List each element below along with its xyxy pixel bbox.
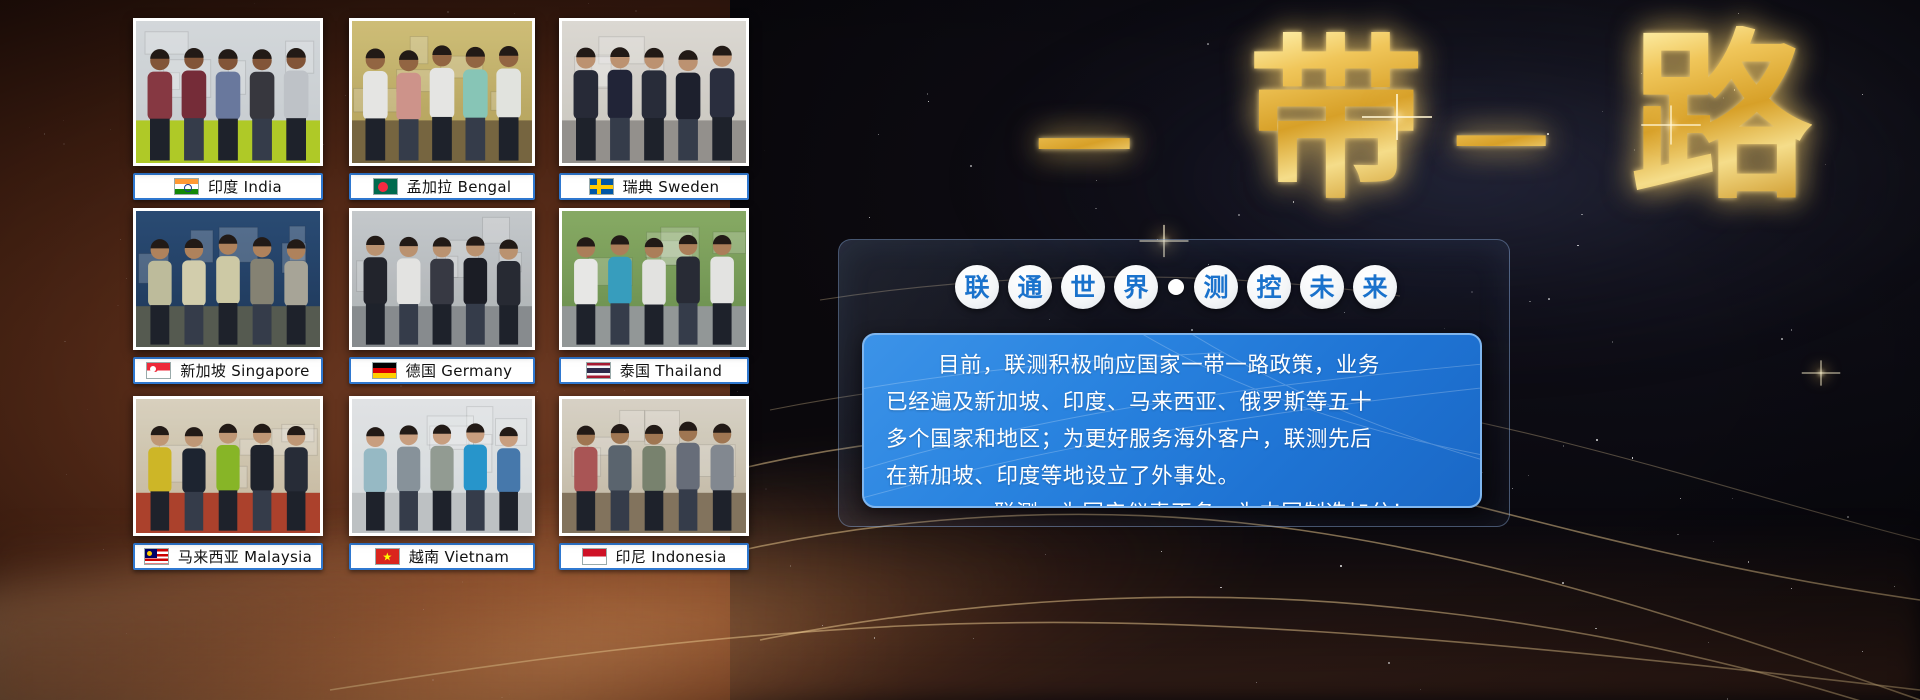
gallery-cell[interactable]: 越南 Vietnam <box>349 396 535 570</box>
photo-scene <box>136 211 320 347</box>
photo-scene <box>136 21 320 163</box>
country-caption[interactable]: 越南 Vietnam <box>349 543 535 570</box>
gallery-cell[interactable]: 泰国 Thailand <box>559 208 749 384</box>
gallery-cell[interactable]: 孟加拉 Bengal <box>349 18 535 200</box>
country-photo-grid: 印度 India孟加拉 Bengal瑞典 Sweden新加坡 Singapore… <box>133 18 758 584</box>
country-caption-label: 新加坡 Singapore <box>180 360 309 381</box>
slogan-badge: 通 <box>1008 265 1052 309</box>
description-line-3: 多个国家和地区；为更好服务海外客户，联测先后 <box>886 421 1458 458</box>
description-line-2: 已经遍及新加坡、印度、马来西亚、俄罗斯等五十 <box>886 384 1458 421</box>
country-photo[interactable] <box>349 18 535 166</box>
flag-singapore-icon <box>146 362 171 379</box>
photo-scene <box>352 21 532 163</box>
slogan-badge-row: 联通世界测控未来 <box>955 265 1397 309</box>
gallery-cell[interactable]: 瑞典 Sweden <box>559 18 749 200</box>
country-caption[interactable]: 泰国 Thailand <box>559 357 749 384</box>
flag-germany-icon <box>372 362 397 379</box>
slogan-badge: 未 <box>1300 265 1344 309</box>
country-photo[interactable] <box>559 396 749 536</box>
photo-scene <box>562 399 746 533</box>
gallery-cell[interactable]: 印尼 Indonesia <box>559 396 749 570</box>
country-caption-label: 泰国 Thailand <box>620 360 723 381</box>
slogan-badge: 界 <box>1114 265 1158 309</box>
flag-bangladesh-icon <box>373 178 398 195</box>
slogan-badge: 世 <box>1061 265 1105 309</box>
country-photo[interactable] <box>133 208 323 350</box>
country-caption-label: 印度 India <box>208 176 282 197</box>
country-photo[interactable] <box>133 18 323 166</box>
country-photo[interactable] <box>133 396 323 536</box>
country-photo[interactable] <box>349 396 535 536</box>
country-caption-label: 越南 Vietnam <box>409 546 509 567</box>
description-line-4: 在新加坡、印度等地设立了外事处。 <box>886 458 1458 495</box>
photo-scene <box>562 211 746 347</box>
photo-scene <box>136 399 320 533</box>
description-line-5: 联测，为国产仪表正名，为中国制造加分！ <box>886 495 1458 508</box>
flag-malaysia-icon <box>144 548 169 565</box>
country-caption-label: 德国 Germany <box>406 360 513 381</box>
flag-thailand-icon <box>586 362 611 379</box>
country-photo[interactable] <box>559 18 749 166</box>
country-photo[interactable] <box>349 208 535 350</box>
country-caption[interactable]: 孟加拉 Bengal <box>349 173 535 200</box>
photo-scene <box>352 211 532 347</box>
photo-scene <box>562 21 746 163</box>
country-caption-label: 马来西亚 Malaysia <box>178 546 312 567</box>
description-line-1: 目前，联测积极响应国家一带一路政策，业务 <box>886 347 1458 384</box>
slogan-badge: 测 <box>1194 265 1238 309</box>
gallery-cell[interactable]: 新加坡 Singapore <box>133 208 323 384</box>
slogan-separator-dot <box>1168 279 1184 295</box>
flag-sweden-icon <box>589 178 614 195</box>
flag-india-icon <box>174 178 199 195</box>
country-caption[interactable]: 印尼 Indonesia <box>559 543 749 570</box>
country-caption-label: 印尼 Indonesia <box>616 546 727 567</box>
slogan-badge: 控 <box>1247 265 1291 309</box>
flag-indonesia-icon <box>582 548 607 565</box>
slogan-badge: 来 <box>1353 265 1397 309</box>
description-panel: 目前，联测积极响应国家一带一路政策，业务 已经遍及新加坡、印度、马来西亚、俄罗斯… <box>862 333 1482 508</box>
country-caption[interactable]: 新加坡 Singapore <box>133 357 323 384</box>
gallery-cell[interactable]: 印度 India <box>133 18 323 200</box>
photo-scene <box>352 399 532 533</box>
country-caption-label: 孟加拉 Bengal <box>407 176 512 197</box>
country-caption[interactable]: 德国 Germany <box>349 357 535 384</box>
gallery-cell[interactable]: 德国 Germany <box>349 208 535 384</box>
flag-vietnam-icon <box>375 548 400 565</box>
gallery-cell[interactable]: 马来西亚 Malaysia <box>133 396 323 570</box>
country-caption[interactable]: 瑞典 Sweden <box>559 173 749 200</box>
country-caption[interactable]: 印度 India <box>133 173 323 200</box>
slogan-badge: 联 <box>955 265 999 309</box>
country-caption[interactable]: 马来西亚 Malaysia <box>133 543 323 570</box>
country-caption-label: 瑞典 Sweden <box>623 176 720 197</box>
country-photo[interactable] <box>559 208 749 350</box>
